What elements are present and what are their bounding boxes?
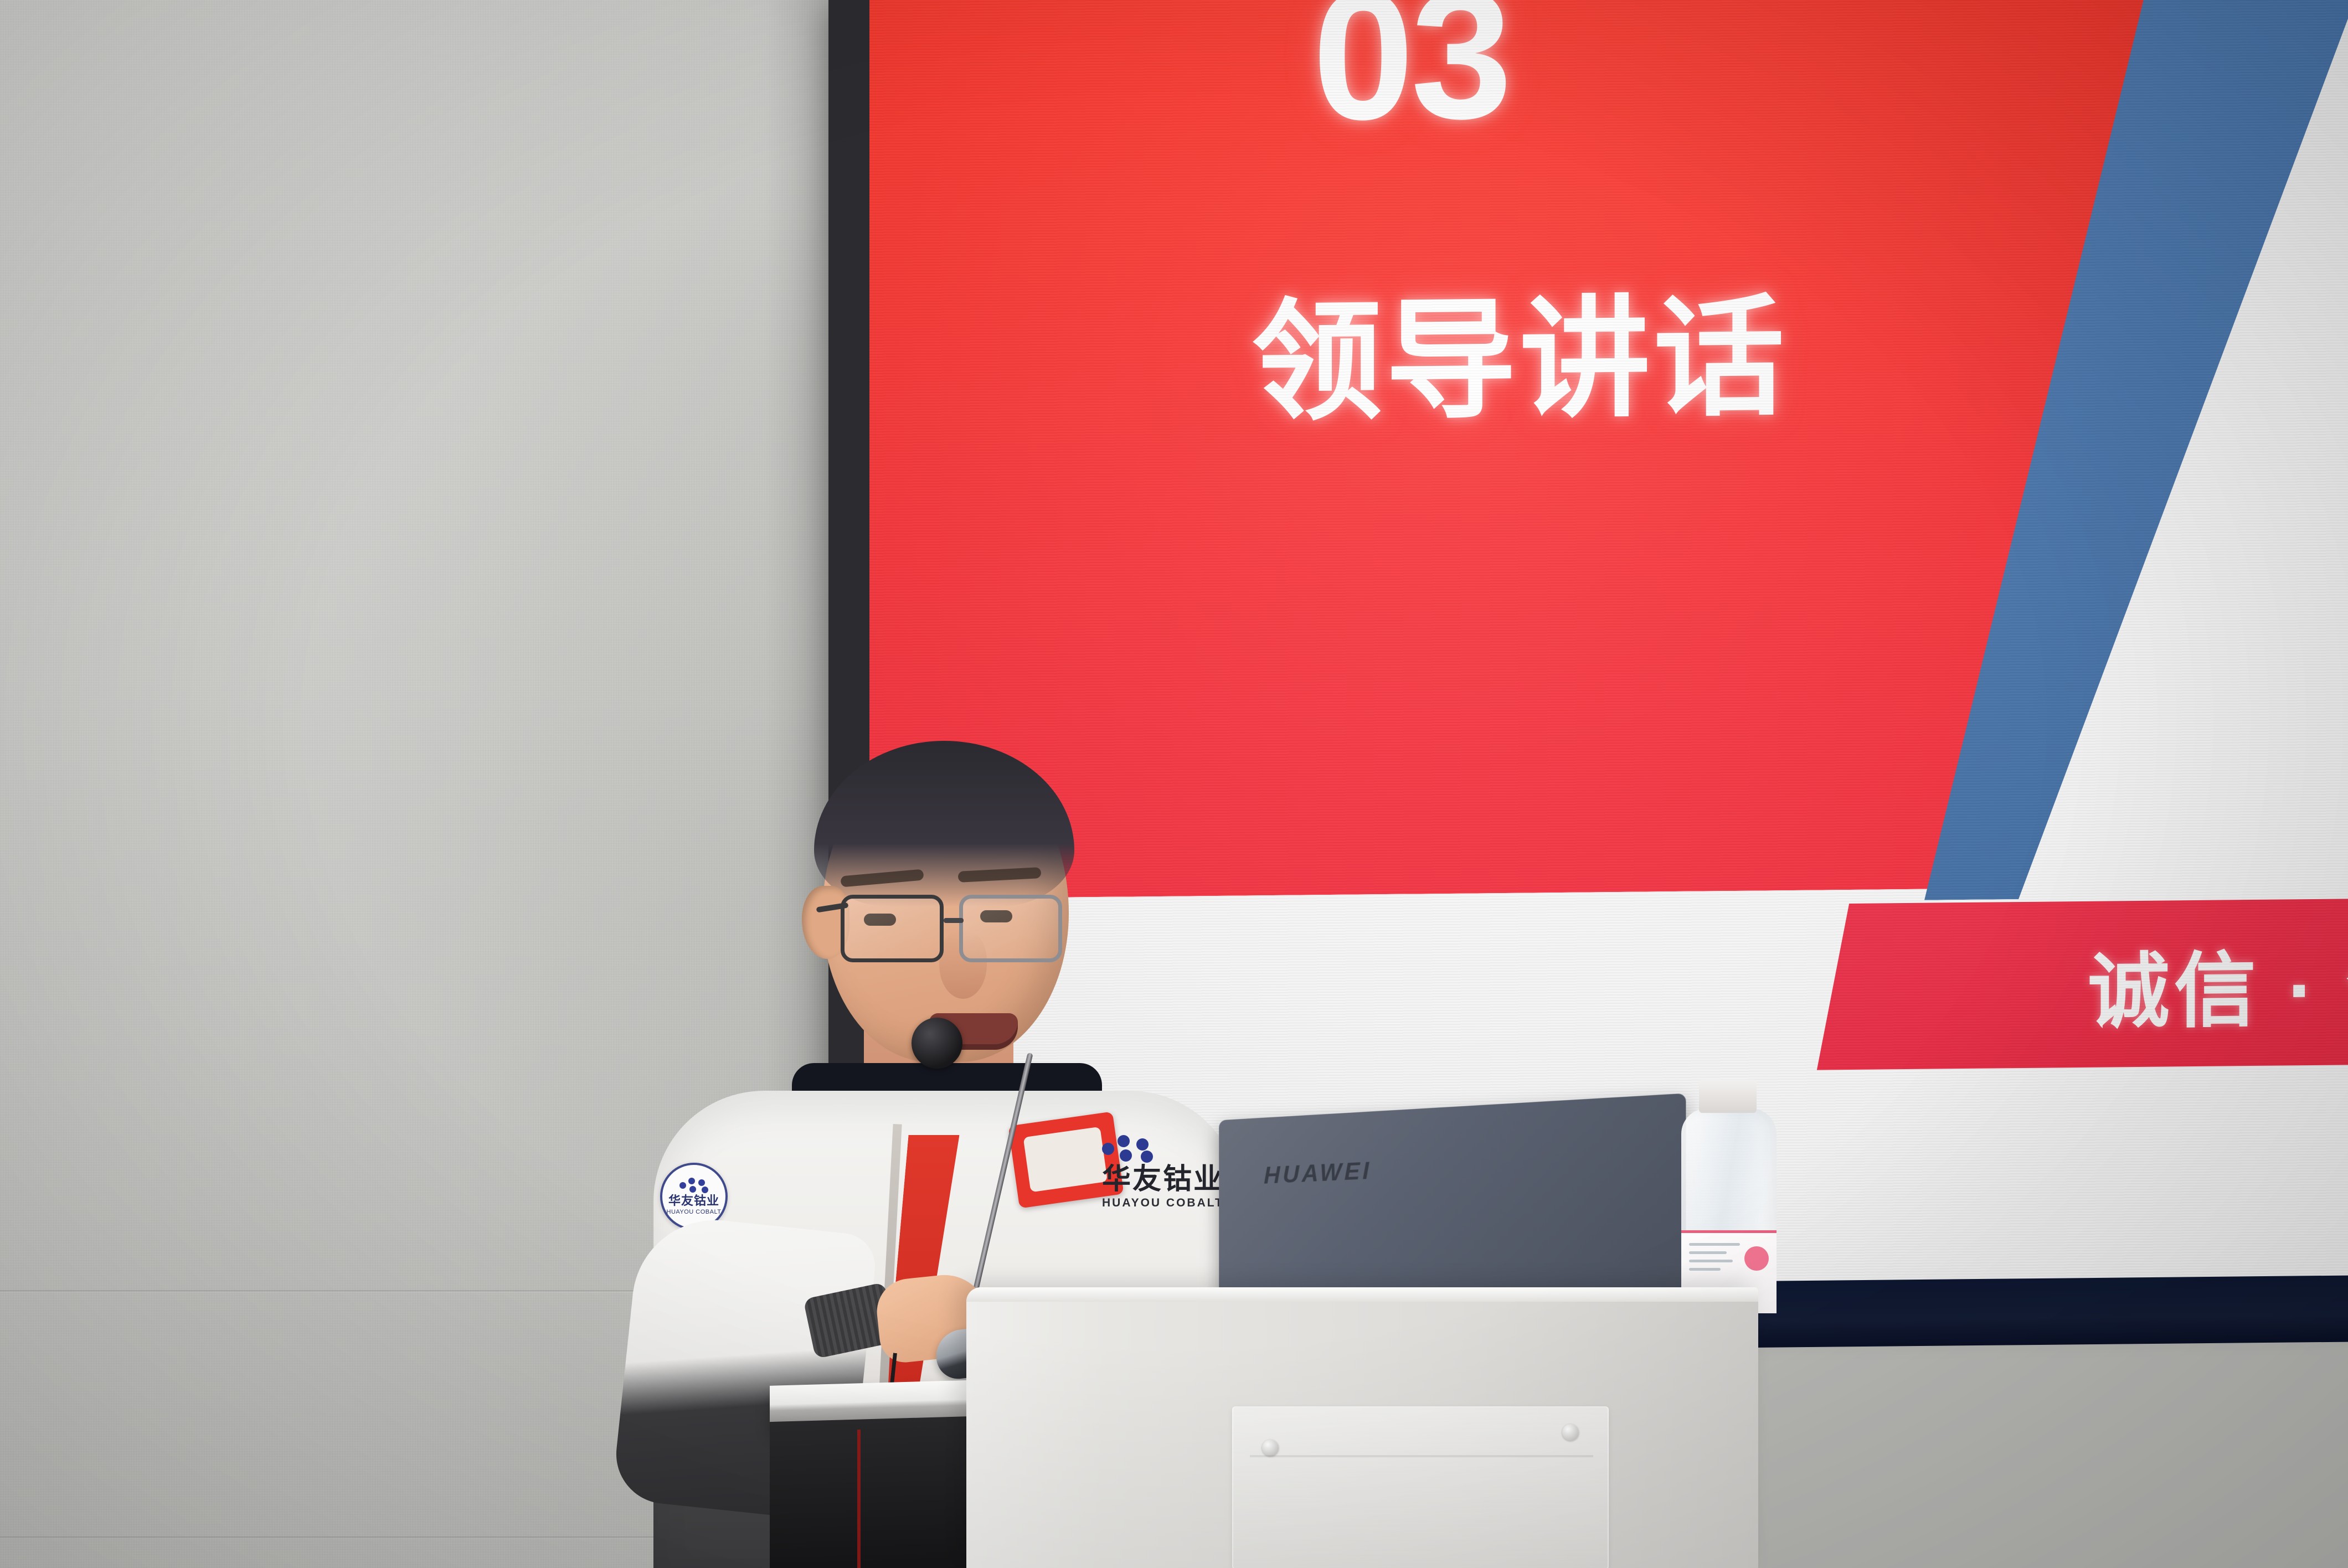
podium-top-lip <box>966 1287 1758 1302</box>
slogan-text: 诚信 · 创 <box>2088 921 2348 1044</box>
slide-section-heading: 领导讲话 <box>1252 292 1788 428</box>
desk-red-trim <box>857 1430 861 1568</box>
huayou-logo-dots-icon <box>679 1178 708 1192</box>
podium-sign-holder <box>1232 1406 1609 1568</box>
plate-groove <box>1250 1455 1593 1457</box>
slogan-banner: 诚信 · 创 <box>1817 897 2348 1070</box>
water-bottle[interactable] <box>1677 1080 1781 1312</box>
laptop-brand-label: HUAWEI <box>1264 1157 1372 1189</box>
presentation-scene: 03 领导讲话 诚信 · 创 华友钴业 HUAYOU COBALT 华友 <box>0 0 2348 1568</box>
podium <box>966 1287 1758 1568</box>
shoulder-badge-cn-text: 华友钴业 <box>668 1195 719 1207</box>
microphone-capsule-icon <box>912 1018 962 1069</box>
chest-logo-cn-text: 华友钴业 <box>1102 1165 1224 1194</box>
screw-icon <box>1262 1440 1279 1456</box>
slide-section-number: 03 <box>1312 0 1509 147</box>
huayou-logo-dots-icon <box>1102 1135 1155 1162</box>
shoulder-badge-en-text: HUAYOU COBALT <box>667 1209 722 1215</box>
chest-logo-en-text: HUAYOU COBALT <box>1102 1196 1224 1210</box>
eyeglasses-icon <box>821 887 1081 970</box>
screw-icon <box>1562 1424 1579 1441</box>
bottle-cap <box>1699 1080 1757 1113</box>
